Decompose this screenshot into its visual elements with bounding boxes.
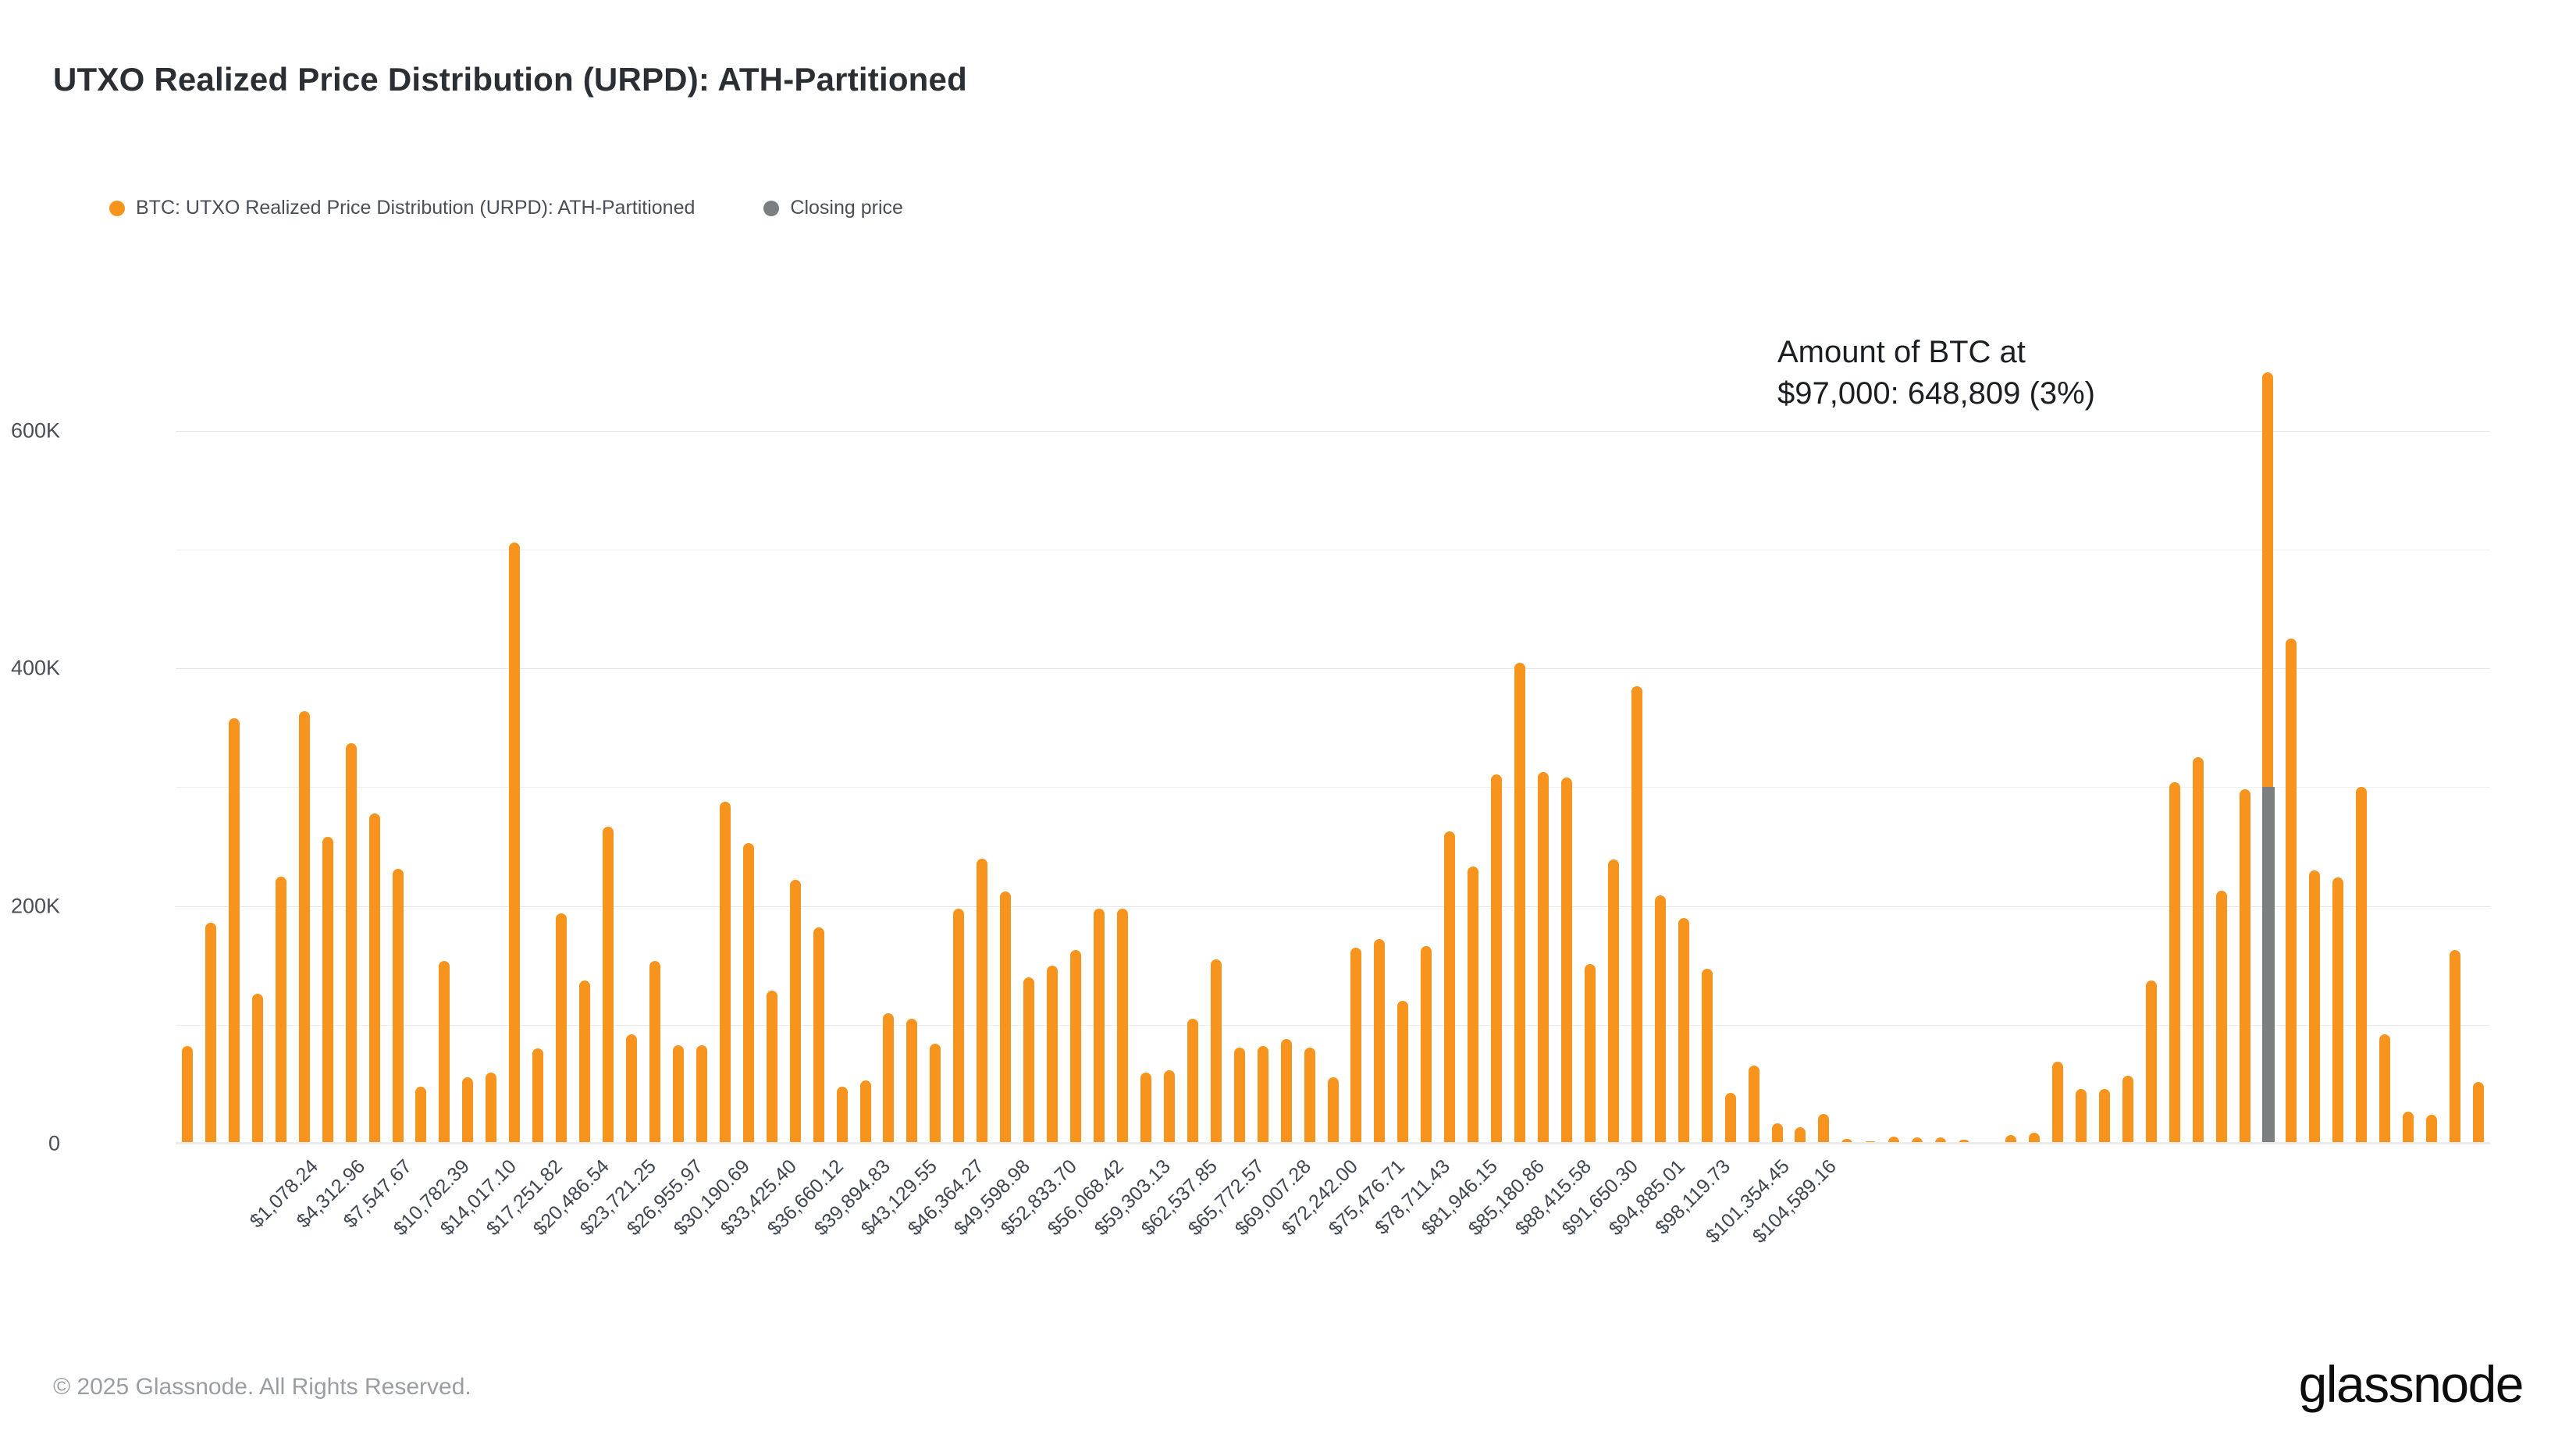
chart-bar[interactable] (509, 543, 520, 1144)
chart-legend: BTC: UTXO Realized Price Distribution (U… (109, 197, 972, 219)
chart-bar[interactable] (930, 1044, 941, 1144)
chart-bar[interactable] (953, 909, 964, 1144)
chart-bar[interactable] (1047, 966, 1058, 1144)
chart-bar[interactable] (322, 837, 333, 1144)
chart-bar[interactable] (2332, 877, 2343, 1144)
chart-bar[interactable] (1211, 959, 1222, 1144)
chart-bar[interactable] (2099, 1089, 2110, 1144)
chart-bar[interactable] (369, 813, 380, 1144)
chart-baseline (176, 1142, 2490, 1144)
chart-bar[interactable] (626, 1034, 637, 1144)
chart-bar[interactable] (1818, 1114, 1829, 1144)
chart-bar[interactable] (1444, 831, 1455, 1144)
chart-bar[interactable] (1304, 1048, 1315, 1144)
chart-bar[interactable] (2403, 1112, 2414, 1144)
chart-bar[interactable] (860, 1080, 871, 1144)
chart-bar[interactable] (1374, 939, 1385, 1144)
chart-bar[interactable] (205, 923, 216, 1144)
chart-bar[interactable] (556, 913, 567, 1144)
chart-bar[interactable] (486, 1073, 496, 1144)
chart-bar[interactable] (346, 743, 357, 1144)
chart-bar[interactable] (767, 991, 777, 1144)
chart-bar[interactable] (2076, 1089, 2087, 1144)
chart-bar[interactable] (2450, 950, 2460, 1144)
chart-bar[interactable] (2473, 1082, 2484, 1144)
chart-bar[interactable] (1328, 1077, 1339, 1144)
chart-bar[interactable] (1258, 1046, 1268, 1144)
chart-bar[interactable] (415, 1087, 426, 1144)
gridline (176, 550, 2490, 550)
chart-bar[interactable] (1725, 1093, 1736, 1144)
chart-bar[interactable] (252, 994, 263, 1144)
chart-bar[interactable] (439, 961, 450, 1144)
chart-bar[interactable] (1000, 891, 1011, 1144)
gridline (176, 906, 2490, 907)
chart-bar[interactable] (2193, 757, 2204, 1144)
legend-item-urpd[interactable]: BTC: UTXO Realized Price Distribution (U… (109, 197, 695, 219)
chart-bar[interactable] (276, 877, 286, 1144)
chart-bar[interactable] (1655, 895, 1666, 1144)
chart-bar[interactable] (2286, 639, 2297, 1144)
chart-bar[interactable] (813, 927, 824, 1144)
chart-bar[interactable] (977, 859, 987, 1144)
chart-bar[interactable] (649, 961, 660, 1144)
chart-bar[interactable] (2052, 1062, 2063, 1144)
chart-bar[interactable] (673, 1045, 684, 1144)
chart-bar[interactable] (790, 880, 801, 1144)
chart-bar[interactable] (1702, 969, 1713, 1144)
chart-bar[interactable] (2146, 980, 2157, 1144)
chart-bar[interactable] (1023, 977, 1034, 1144)
chart-bar[interactable] (883, 1013, 894, 1144)
chart-bar[interactable] (1538, 772, 1549, 1144)
legend-item-closing-price[interactable]: Closing price (763, 197, 903, 219)
chart-bar[interactable] (182, 1046, 193, 1144)
chart-bar[interactable] (1397, 1001, 1408, 1144)
chart-bar[interactable] (837, 1087, 848, 1144)
gridline (176, 431, 2490, 432)
closing-price-marker-bar[interactable] (2262, 787, 2275, 1144)
y-axis-tick-label: 200K (0, 894, 60, 918)
legend-dot-icon (109, 201, 125, 216)
gridline (176, 668, 2490, 669)
chart-bar[interactable] (1070, 950, 1081, 1144)
chart-bar[interactable] (720, 802, 731, 1144)
legend-item-label: BTC: UTXO Realized Price Distribution (U… (136, 197, 695, 219)
chart-bar[interactable] (299, 711, 310, 1144)
chart-bar[interactable] (229, 718, 240, 1144)
chart-bar[interactable] (1772, 1123, 1783, 1144)
chart-bar[interactable] (1164, 1070, 1175, 1144)
page-title: UTXO Realized Price Distribution (URPD):… (53, 61, 967, 98)
gridline (176, 1025, 2490, 1026)
chart-bar[interactable] (1094, 909, 1105, 1144)
glassnode-logo: glassnode (2299, 1354, 2523, 1414)
chart-bar[interactable] (1421, 946, 1432, 1144)
chart-bar[interactable] (1608, 859, 1619, 1144)
chart-bar[interactable] (1749, 1066, 1759, 1144)
legend-item-label: Closing price (790, 197, 903, 219)
y-axis-tick-label: 0 (0, 1132, 60, 1156)
chart-bar[interactable] (1140, 1073, 1151, 1144)
chart-bar[interactable] (743, 843, 754, 1144)
chart-bar[interactable] (2356, 787, 2367, 1144)
chart-bar[interactable] (2169, 782, 2180, 1144)
y-axis-tick-label: 600K (0, 418, 60, 443)
chart-bar[interactable] (2240, 789, 2250, 1144)
chart-bar[interactable] (1350, 948, 1361, 1144)
chart-bar[interactable] (1795, 1127, 1806, 1144)
chart-bar[interactable] (1281, 1039, 1292, 1144)
chart-bar[interactable] (1491, 774, 1502, 1144)
chart-bar[interactable] (1561, 778, 1572, 1144)
chart-bar[interactable] (393, 869, 404, 1144)
footer-copyright: © 2025 Glassnode. All Rights Reserved. (53, 1374, 471, 1400)
gridline (176, 787, 2490, 788)
chart-bar[interactable] (2216, 891, 2227, 1144)
chart-bar[interactable] (1514, 663, 1525, 1144)
chart-bar[interactable] (1678, 918, 1689, 1144)
chart-bar[interactable] (1585, 964, 1596, 1144)
chart-bar[interactable] (1468, 867, 1478, 1144)
chart-bar[interactable] (532, 1048, 543, 1144)
chart-bar[interactable] (1631, 686, 1642, 1144)
chart-bar[interactable] (696, 1045, 707, 1144)
chart-bar[interactable] (2426, 1115, 2437, 1144)
chart-bar[interactable] (1187, 1019, 1198, 1144)
chart-bar[interactable] (603, 827, 614, 1144)
chart-bar[interactable] (579, 980, 590, 1144)
chart-bar[interactable] (2122, 1076, 2133, 1144)
chart-bar[interactable] (906, 1019, 917, 1144)
chart-bar[interactable] (2379, 1034, 2390, 1144)
chart-bar[interactable] (462, 1077, 473, 1144)
chart-bar[interactable] (1117, 909, 1128, 1144)
chart-bar[interactable] (1234, 1048, 1245, 1144)
chart-plot-area (176, 336, 2490, 1144)
chart-bar[interactable] (2309, 870, 2320, 1144)
legend-dot-icon (763, 201, 779, 216)
y-axis-tick-label: 400K (0, 657, 60, 681)
